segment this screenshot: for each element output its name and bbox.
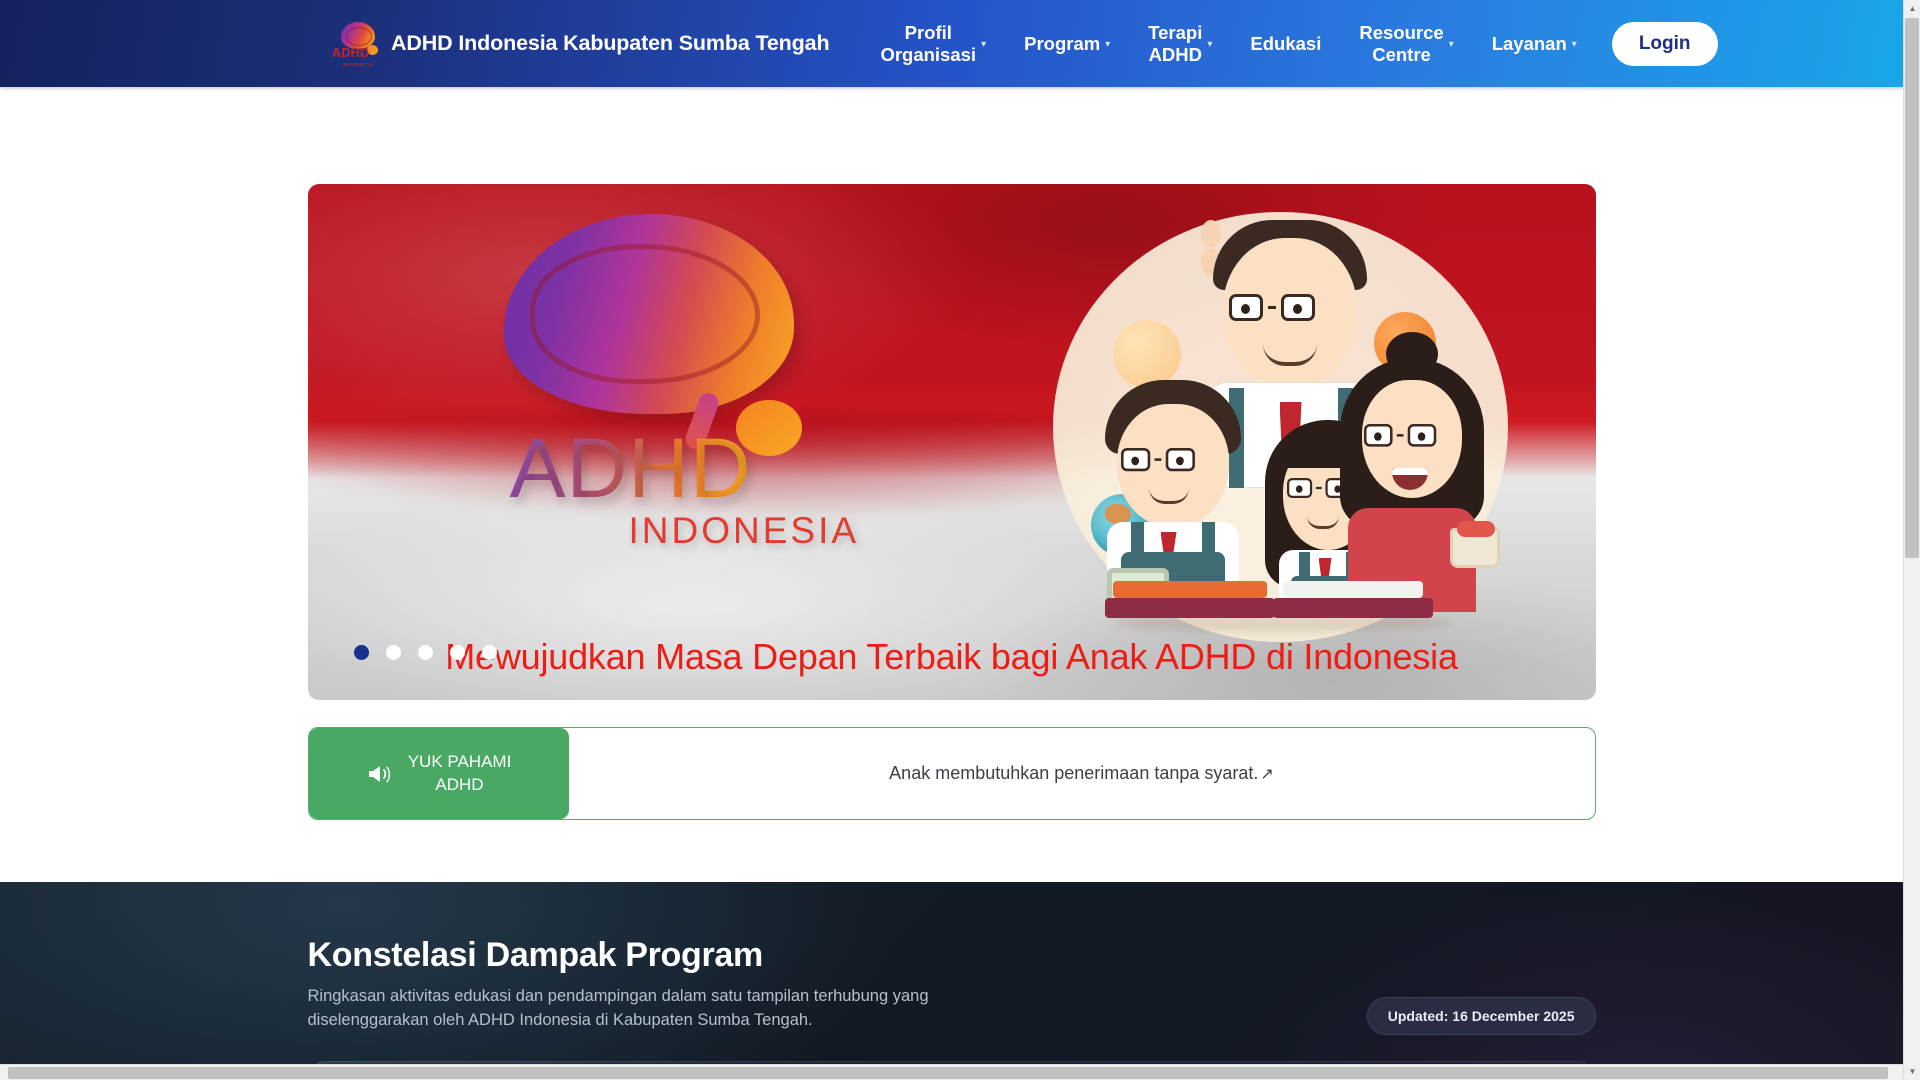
nav-label: Layanan [1492,33,1567,54]
nav-item-resource-centre[interactable]: Resource Centre ▾ [1340,14,1472,74]
primary-navigation: Profil Organisasi ▾ Program ▾ Terapi ADH… [861,14,1717,74]
impact-section: Konstelasi Dampak Program Ringkasan akti… [0,882,1903,1080]
hero-caption: Mewujudkan Masa Depan Terbaik bagi Anak … [308,636,1596,678]
site-title: ADHD Indonesia Kabupaten Sumba Tengah [391,31,829,56]
announcement-tag-label: YUK PAHAMI ADHD [408,751,512,797]
login-button[interactable]: Login [1612,22,1718,66]
impact-header: Konstelasi Dampak Program Ringkasan akti… [308,882,1596,1033]
nav-label: Edukasi [1250,33,1321,54]
page-content: ADHD INDONESIA ADHD Indonesia Kabupaten … [0,0,1903,1080]
vertical-scrollbar-thumb[interactable] [1905,18,1919,558]
announcement-message-link[interactable]: Anak membutuhkan penerimaan tanpa syarat… [569,728,1595,819]
updated-badge[interactable]: Updated: 16 December 2025 [1367,997,1596,1035]
brain-shape-icon [341,22,375,49]
carousel-dot-5[interactable] [482,645,497,660]
hero-subwordmark: INDONESIA [629,510,860,552]
hero-slide[interactable]: ADHD INDONESIA [308,184,1596,700]
nav-item-program[interactable]: Program ▾ [1005,14,1129,74]
brand-logo-link[interactable]: ADHD INDONESIA ADHD Indonesia Kabupaten … [332,21,829,67]
nav-label: Terapi ADHD [1148,22,1202,64]
browser-viewport: ADHD INDONESIA ADHD Indonesia Kabupaten … [0,0,1920,1080]
chevron-down-icon: ▾ [1449,40,1454,50]
books-stack-icon [1105,562,1465,618]
carousel-indicators [354,645,497,660]
nav-label: Resource Centre [1359,22,1443,64]
carousel-dot-4[interactable] [450,645,465,660]
chevron-down-icon: ▾ [1207,40,1212,50]
ear-icon [1201,220,1221,248]
horizontal-scrollbar-thumb[interactable] [8,1067,1888,1079]
glasses-icon [1121,448,1195,471]
site-header: ADHD INDONESIA ADHD Indonesia Kabupaten … [0,0,1903,87]
adhd-brain-logo-icon: ADHD INDONESIA [332,21,378,67]
main-content: ADHD INDONESIA [0,184,1903,1080]
chevron-down-icon: ▾ [981,40,986,50]
scroll-down-arrow-icon[interactable]: ▼ [1904,1063,1920,1080]
vertical-scrollbar[interactable]: ▲ ▼ [1903,0,1920,1080]
glasses-icon [1364,424,1436,447]
chevron-down-icon: ▾ [1105,40,1110,50]
external-link-arrow-icon: ↗ [1260,764,1273,784]
logo-wordmark: ADHD [332,46,369,60]
nav-label: Profil Organisasi [880,22,976,64]
family-illustration [1053,212,1508,642]
impact-subtitle: Ringkasan aktivitas edukasi dan pendampi… [308,985,948,1033]
hero-adhd-logo-artwork: ADHD INDONESIA [504,214,834,544]
hero-wordmark: ADHD [510,426,752,510]
nav-item-edukasi[interactable]: Edukasi [1231,14,1340,74]
decorative-bubble-icon [1113,320,1181,388]
carousel-dot-2[interactable] [386,645,401,660]
hero-brain-icon [504,214,794,414]
megaphone-icon [366,761,392,787]
glasses-icon [1229,294,1315,321]
carousel-dot-3[interactable] [418,645,433,660]
announcement-bar: YUK PAHAMI ADHD Anak membutuhkan penerim… [308,727,1596,820]
logo-subwordmark: INDONESIA [342,62,374,67]
horizontal-scrollbar[interactable] [0,1064,1903,1080]
announcement-message: Anak membutuhkan penerimaan tanpa syarat… [889,763,1258,784]
nav-item-terapi-adhd[interactable]: Terapi ADHD ▾ [1129,14,1231,74]
scroll-up-arrow-icon[interactable]: ▲ [1904,0,1920,17]
impact-title: Konstelasi Dampak Program [308,936,1596,975]
nav-item-profil-organisasi[interactable]: Profil Organisasi ▾ [861,14,1005,74]
nav-label: Program [1024,33,1100,54]
hero-carousel: ADHD INDONESIA [308,184,1596,700]
announcement-tag-button[interactable]: YUK PAHAMI ADHD [309,728,569,819]
carousel-dot-1[interactable] [354,645,369,660]
nav-item-layanan[interactable]: Layanan ▾ [1473,14,1596,74]
chevron-down-icon: ▾ [1572,40,1577,50]
